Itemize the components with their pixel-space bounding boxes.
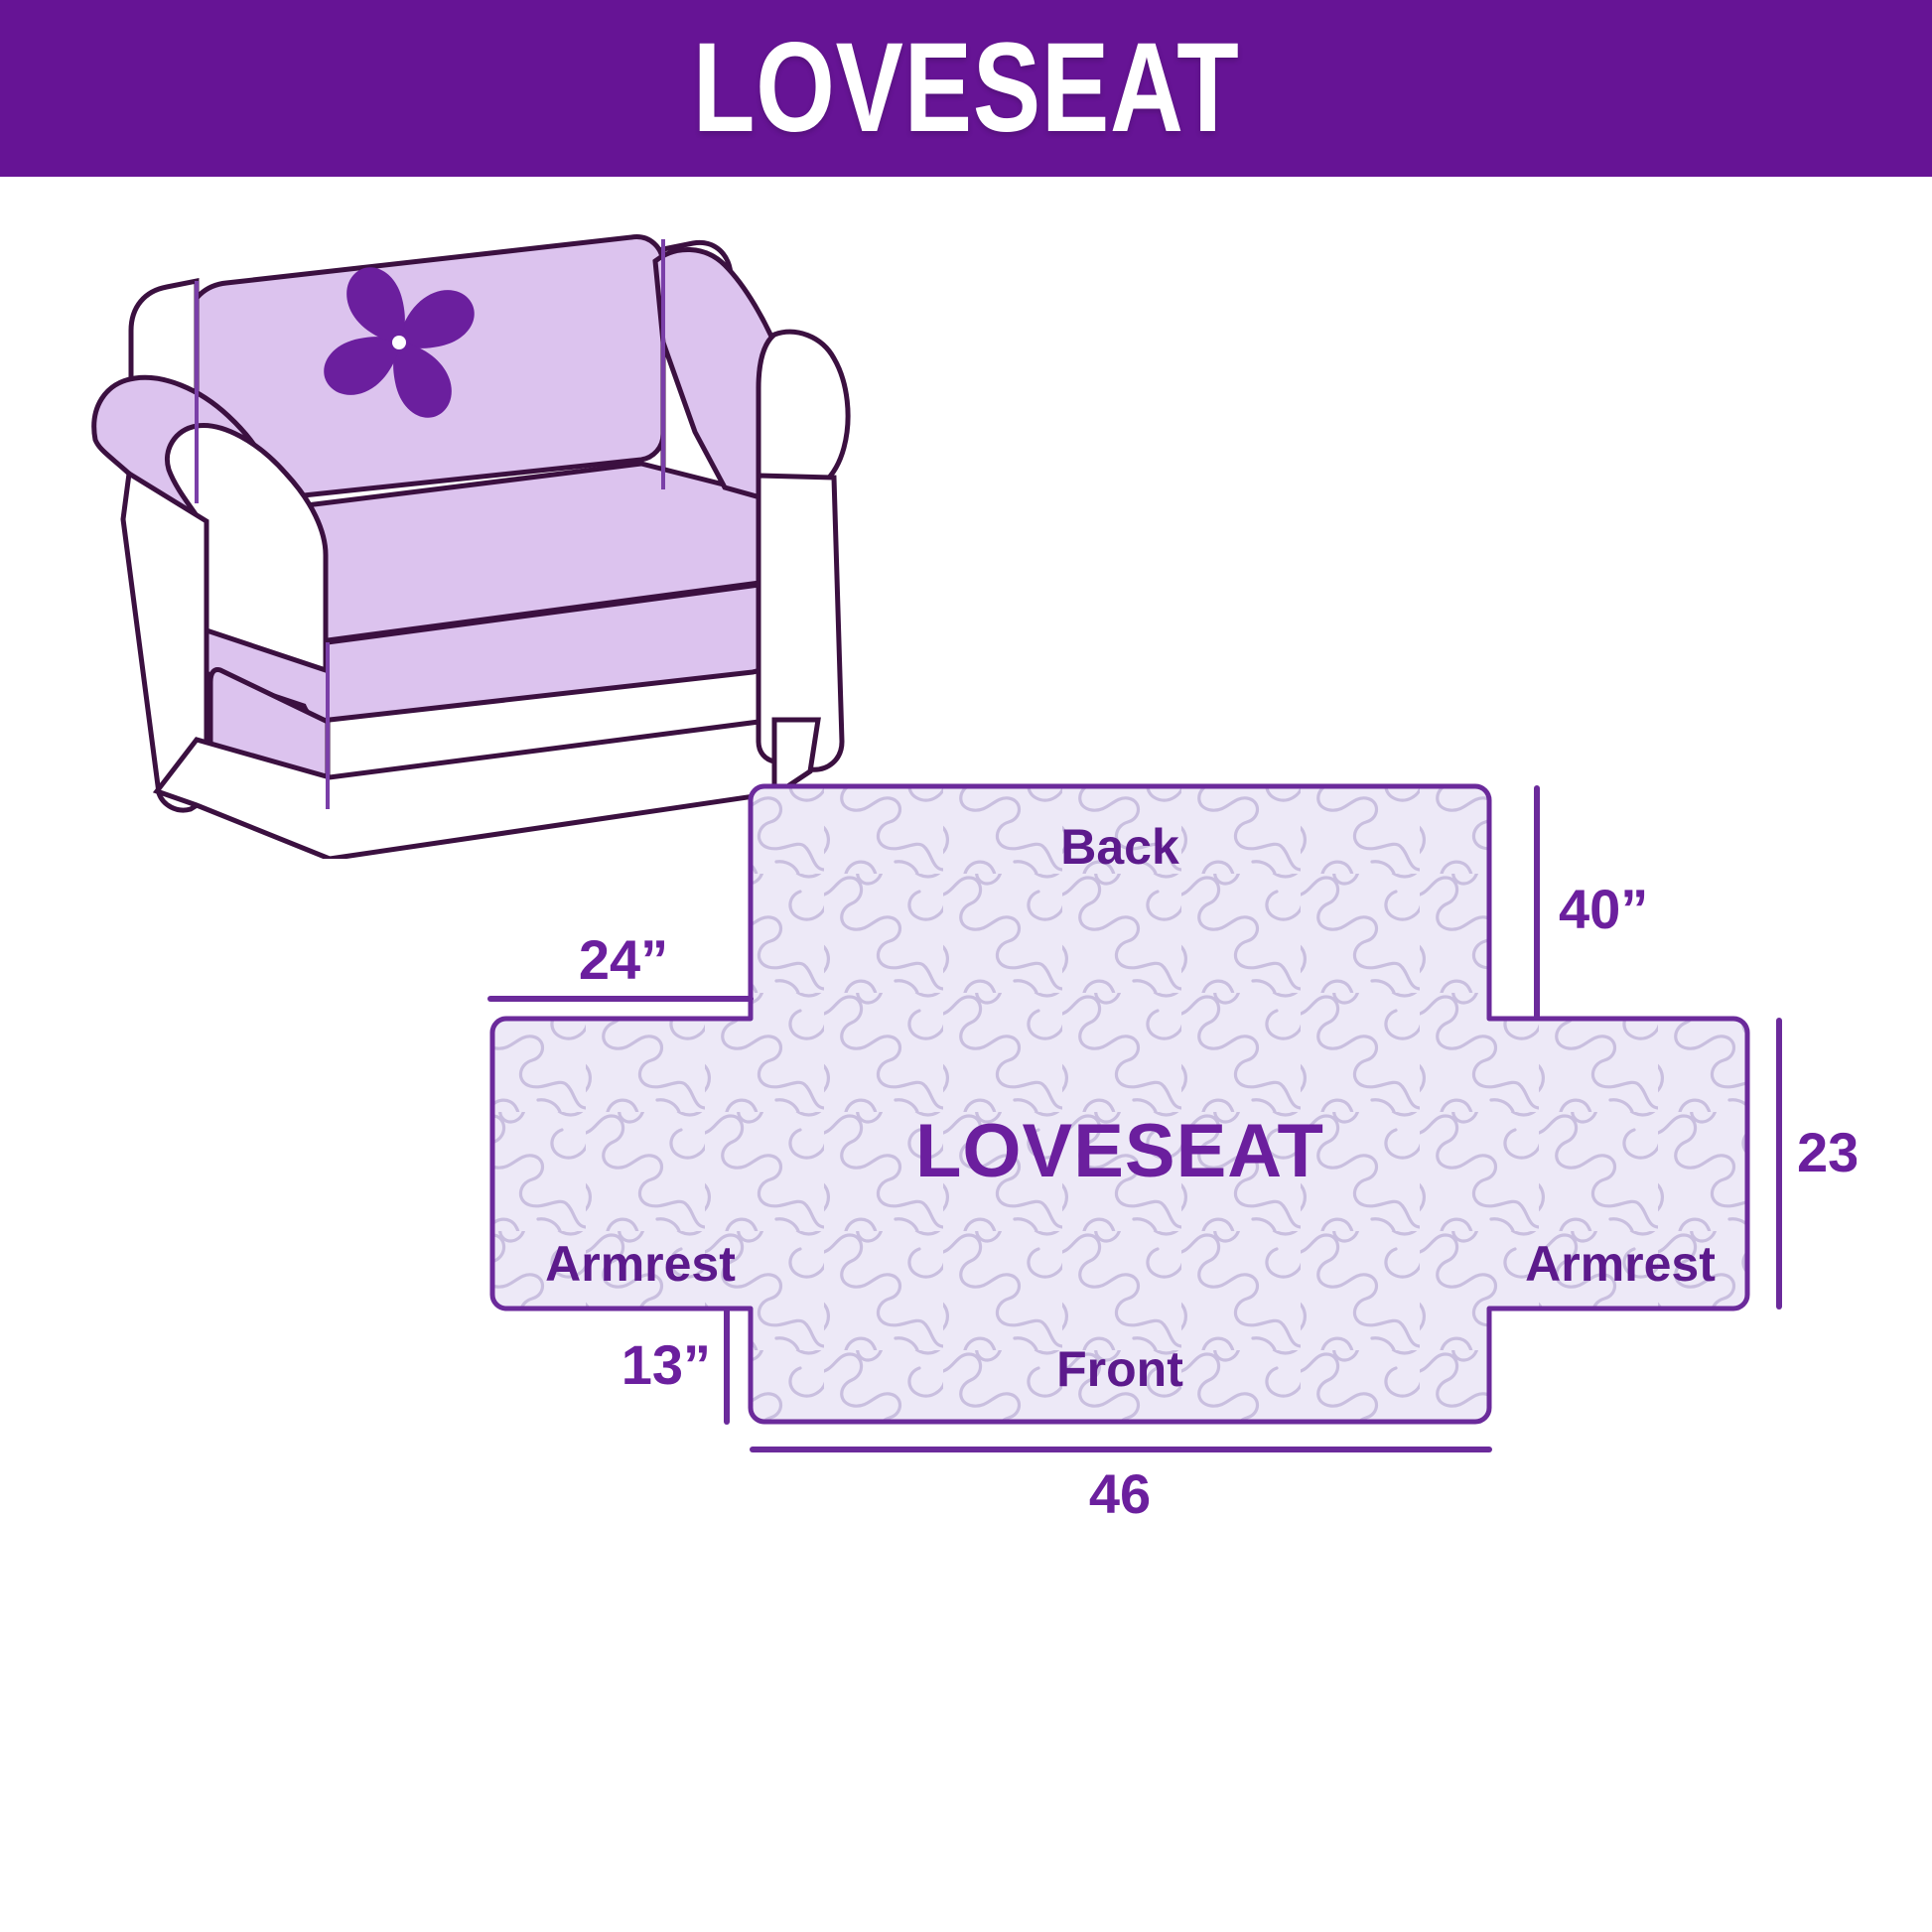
dimension-front-width-label: 46 xyxy=(1089,1462,1151,1525)
product-dimension-graphic: LOVESEAT xyxy=(0,0,1932,1932)
dimension-armrest-width-label: 24” xyxy=(579,928,668,991)
page-title: LOVESEAT xyxy=(693,25,1240,152)
dimension-front-height: 13” xyxy=(621,1311,727,1422)
dimension-front-width: 46 xyxy=(753,1449,1489,1525)
cover-dimension-diagram: Back Armrest Armrest Front LOVESEAT 40” … xyxy=(467,755,1857,1926)
dimension-back-height-label: 40” xyxy=(1559,878,1648,940)
panel-label-back: Back xyxy=(1060,819,1179,875)
dimension-armrest-height: 23” xyxy=(1779,1021,1857,1307)
sofa-right-arm-roll xyxy=(759,332,848,495)
dimension-front-height-label: 13” xyxy=(621,1333,711,1396)
dimension-back-height: 40” xyxy=(1537,788,1648,1017)
dimension-armrest-height-label: 23” xyxy=(1797,1121,1857,1183)
panel-label-armrest-right: Armrest xyxy=(1525,1236,1716,1292)
diagram-center-label: LOVESEAT xyxy=(915,1109,1324,1193)
dimension-armrest-width: 24” xyxy=(490,928,751,999)
header-banner: LOVESEAT xyxy=(0,0,1932,177)
panel-label-armrest-left: Armrest xyxy=(545,1236,736,1292)
panel-label-front: Front xyxy=(1056,1341,1183,1397)
